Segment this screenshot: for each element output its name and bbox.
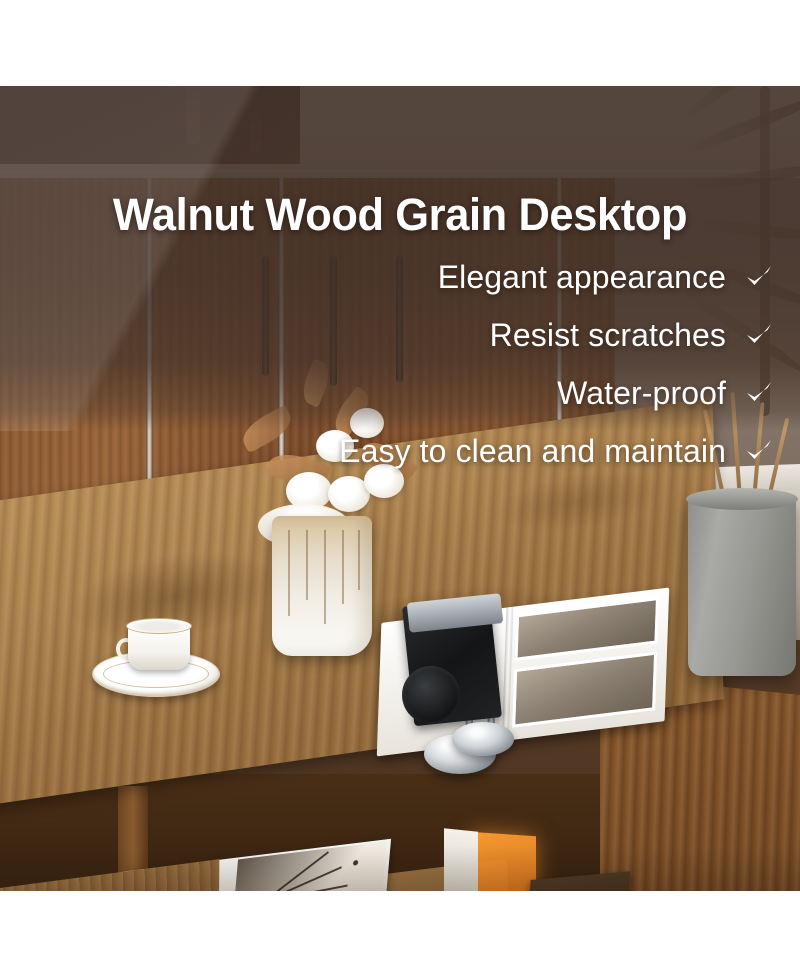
check-icon <box>744 320 774 350</box>
feature-item: Elegant appearance <box>0 256 774 298</box>
feature-label: Resist scratches <box>490 316 726 354</box>
marketing-text-layer: Walnut Wood Grain Desktop Elegant appear… <box>0 86 800 486</box>
planter-rim <box>686 488 798 510</box>
feature-label: Elegant appearance <box>438 258 726 296</box>
check-icon <box>744 378 774 408</box>
magazine-photo <box>512 652 657 728</box>
product-banner-image: Walnut Wood Grain Desktop Elegant appear… <box>0 0 800 977</box>
check-icon <box>744 436 774 466</box>
feature-label: Easy to clean and maintain <box>339 432 726 470</box>
feature-item: Easy to clean and maintain <box>0 430 774 472</box>
concrete-planter <box>688 496 796 676</box>
white-card <box>444 828 478 891</box>
page-title: Walnut Wood Grain Desktop <box>14 190 786 240</box>
feature-label: Water-proof <box>557 374 726 412</box>
check-icon <box>744 262 774 292</box>
lamp-base-front <box>452 722 514 756</box>
feature-list: Elegant appearance Resist scratches <box>0 256 800 488</box>
feature-item: Water-proof <box>0 372 774 414</box>
teacup-rim <box>126 618 192 634</box>
feature-item: Resist scratches <box>0 314 774 356</box>
lamp-joint-disc <box>402 666 460 724</box>
flower-vase <box>272 516 372 656</box>
magazine-photo <box>514 597 659 661</box>
product-photo: Walnut Wood Grain Desktop Elegant appear… <box>0 86 800 891</box>
amber-glass-object <box>470 832 536 891</box>
